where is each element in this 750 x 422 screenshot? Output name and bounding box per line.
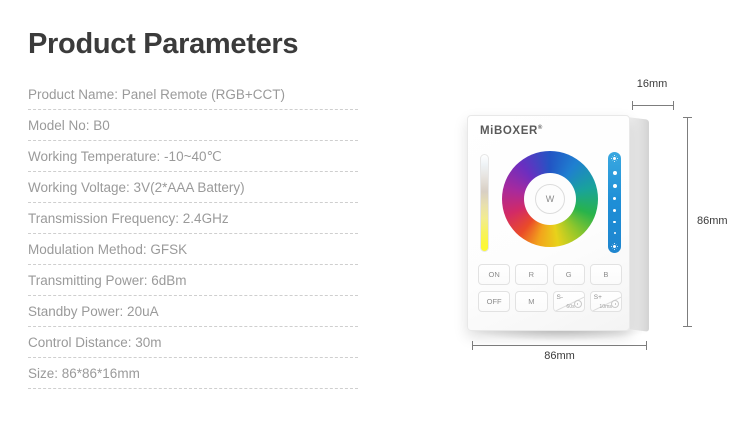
sun-bright-icon [611,155,618,162]
spec-row-working-voltage: Working Voltage: 3V(2*AAA Battery) [28,172,358,203]
white-mode-button[interactable]: W [535,184,565,214]
panel-button-grid: ON R G B OFF M S- 60s S+ 10ms [478,264,622,312]
spec-row-standby-power: Standby Power: 20uA [28,296,358,327]
panel-front-face: MiBOXER® W [467,115,630,331]
dimension-width-line [472,341,647,350]
spec-row-product-name: Product Name: Panel Remote (RGB+CCT) [28,79,358,110]
brightness-dot [613,209,616,212]
product-panel-image: MiBOXER® W [467,115,682,335]
dimension-depth-line [632,101,674,110]
spec-row-control-distance: Control Distance: 30m [28,327,358,358]
spec-row-size: Size: 86*86*16mm [28,358,358,389]
brightness-dot [613,171,617,175]
dimension-depth-label: 16mm [626,78,678,90]
spec-row-transmission-frequency: Transmission Frequency: 2.4GHz [28,203,358,234]
brightness-dot [613,184,617,188]
brightness-dot [614,232,616,234]
spec-row-modulation-method: Modulation Method: GFSK [28,234,358,265]
sun-dim-icon [611,243,618,250]
dimension-width-label: 86mm [472,350,647,362]
speed-up-sub: 10ms [599,304,612,310]
button-m[interactable]: M [515,291,547,312]
button-r[interactable]: R [515,264,547,285]
speed-down-label: S- [557,294,564,301]
button-g[interactable]: G [553,264,585,285]
button-on[interactable]: ON [478,264,510,285]
button-speed-down[interactable]: S- 60s [553,291,585,312]
clock-icon [574,300,582,308]
product-parameters-page: Product Parameters Product Name: Panel R… [0,0,750,422]
dimension-height-label: 86mm [697,215,728,227]
cct-slider[interactable] [480,154,489,252]
registered-mark-icon: ® [538,125,543,131]
speed-up-label: S+ [594,294,602,301]
brand-name: MiBOXER [480,125,538,137]
brightness-slider[interactable] [608,152,621,253]
dimension-height-line [683,117,692,327]
rgb-color-wheel[interactable]: W [502,151,598,247]
brightness-dot [613,221,616,224]
specs-column: Product Parameters Product Name: Panel R… [28,28,358,389]
spec-row-model-no: Model No: B0 [28,110,358,141]
spec-row-transmitting-power: Transmitting Power: 6dBm [28,265,358,296]
spec-list: Product Name: Panel Remote (RGB+CCT) Mod… [28,79,358,389]
brightness-dots [608,162,621,243]
panel-side-face [627,117,649,332]
button-speed-up[interactable]: S+ 10ms [590,291,622,312]
brand-logo: MiBOXER® [480,125,543,137]
spec-row-working-temperature: Working Temperature: -10~40℃ [28,141,358,172]
button-off[interactable]: OFF [478,291,510,312]
clock-icon [611,300,619,308]
brightness-dot [613,197,617,201]
page-title: Product Parameters [28,28,358,61]
button-b[interactable]: B [590,264,622,285]
